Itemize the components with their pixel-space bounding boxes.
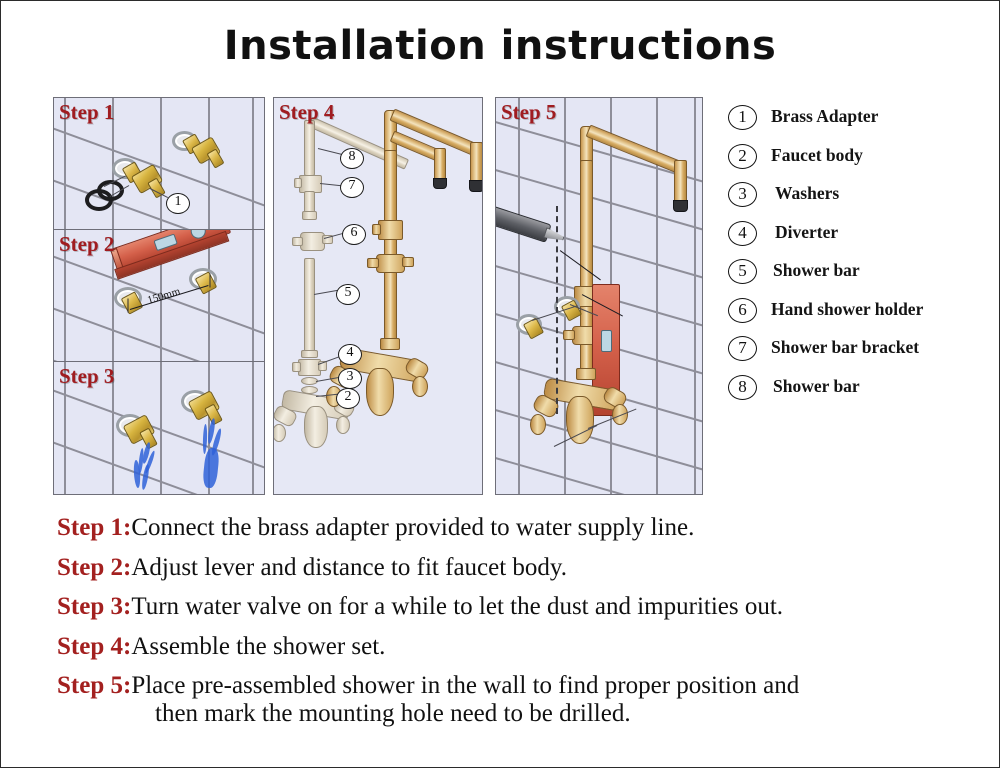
step-3-label: Step 3 (59, 364, 114, 389)
legend-number: 6 (728, 298, 757, 323)
callout-8: 8 (340, 148, 364, 169)
step-key: Step 1: (57, 514, 131, 541)
step-1-label: Step 1 (59, 100, 114, 125)
legend-number: 5 (728, 259, 757, 284)
step-text: Place pre-assembled shower in the wall t… (131, 672, 799, 699)
step-2-label: Step 2 (59, 232, 114, 257)
legend-label: Hand shower holder (771, 298, 923, 321)
legend-item: 6 Hand shower holder (728, 298, 990, 337)
step-instruction-row: Step 3:Turn water valve on for a while t… (57, 593, 987, 633)
legend-number: 8 (728, 375, 757, 400)
step-key: Step 3: (57, 593, 131, 620)
legend-item: 8 Shower bar (728, 375, 990, 414)
step-text: Assemble the shower set. (131, 633, 385, 660)
legend-number: 2 (728, 144, 757, 169)
legend-number: 4 (728, 221, 757, 246)
legend-item: 4 Diverter (728, 221, 990, 260)
legend-number: 1 (728, 105, 757, 130)
level-vial-vertical (601, 330, 612, 352)
callout-4: 4 (338, 344, 362, 365)
step-instructions-list: Step 1:Connect the brass adapter provide… (57, 514, 987, 751)
legend-label: Diverter (775, 221, 838, 244)
step-text: Adjust lever and distance to fit faucet … (131, 554, 567, 581)
callout-2: 2 (336, 388, 360, 409)
callout-5: 5 (336, 284, 360, 305)
step-4-label: Step 4 (279, 100, 334, 125)
legend-label: Brass Adapter (771, 105, 878, 128)
installation-instructions-sheet: Installation instructions (0, 0, 1000, 768)
step-5-label: Step 5 (501, 100, 556, 125)
panel-step-4: 8 7 6 5 4 3 2 Step 4 (273, 97, 483, 495)
parts-legend: 1 Brass Adapter 2 Faucet body 3 Washers … (728, 105, 990, 413)
legend-number: 3 (728, 182, 757, 207)
step-instruction-row: Step 1:Connect the brass adapter provide… (57, 514, 987, 554)
legend-item: 2 Faucet body (728, 144, 990, 183)
callout-7: 7 (340, 177, 364, 198)
step-instruction-row: Step 5:Place pre-assembled shower in the… (57, 672, 987, 751)
page-title: Installation instructions (1, 23, 999, 69)
panel-step-3: Step 3 (53, 361, 265, 495)
legend-label: Washers (775, 182, 839, 205)
legend-label: Shower bar (773, 375, 860, 398)
step-key: Step 4: (57, 633, 131, 660)
callout-6: 6 (342, 224, 366, 245)
legend-item: 7 Shower bar bracket (728, 336, 990, 375)
step-key: Step 5: (57, 672, 131, 699)
legend-item: 3 Washers (728, 182, 990, 221)
callout-3: 3 (338, 368, 362, 389)
step-text: Turn water valve on for a while to let t… (131, 593, 783, 620)
legend-number: 7 (728, 336, 757, 361)
callout-1: 1 (166, 193, 190, 214)
legend-label: Faucet body (771, 144, 863, 167)
legend-label: Shower bar bracket (771, 336, 919, 359)
step-key: Step 2: (57, 554, 131, 581)
legend-item: 1 Brass Adapter (728, 105, 990, 144)
panel-step-1: 1 Step 1 (53, 97, 265, 231)
panel-step-2: 150mm Step 2 (53, 229, 265, 363)
step-text-continued: then mark the mounting hole need to be d… (155, 700, 987, 728)
legend-label: Shower bar (773, 259, 860, 282)
shower-bar-bracket-assembled (378, 220, 403, 240)
step-instruction-row: Step 4:Assemble the shower set. (57, 633, 987, 673)
panel-step-5: Step 5 (495, 97, 703, 495)
diverter-assembled (376, 254, 405, 273)
legend-item: 5 Shower bar (728, 259, 990, 298)
step-instruction-row: Step 2:Adjust lever and distance to fit … (57, 554, 987, 594)
step-text: Connect the brass adapter provided to wa… (131, 514, 694, 541)
